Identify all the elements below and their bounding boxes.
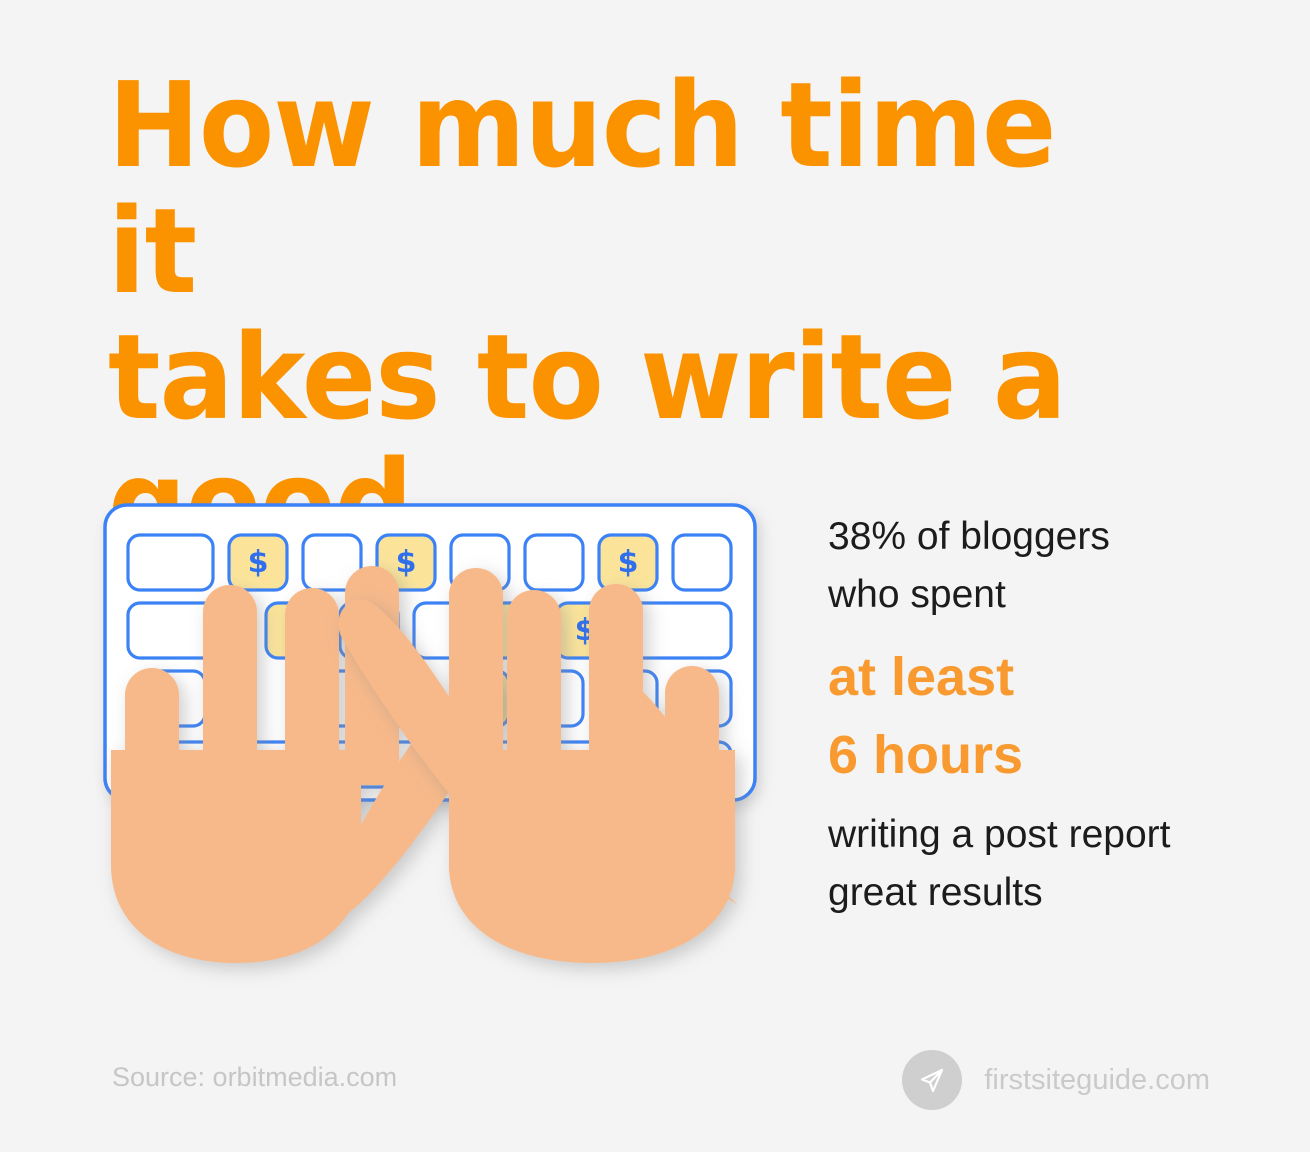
- svg-text:$: $: [248, 545, 269, 580]
- brand-footer[interactable]: firstsiteguide.com: [902, 1050, 1210, 1110]
- paper-plane-icon: [902, 1050, 962, 1110]
- keyboard-illustration: $ $ $: [95, 495, 775, 995]
- svg-text:$: $: [396, 545, 417, 580]
- source-credit: Source: orbitmedia.com: [112, 1060, 397, 1094]
- brand-name: firstsiteguide.com: [984, 1063, 1210, 1097]
- stat-lead-text: 38% of bloggers who spent: [828, 508, 1248, 624]
- statistic-block: 38% of bloggers who spent at least 6 hou…: [828, 508, 1248, 922]
- stat-highlight-text: at least 6 hours: [828, 638, 1248, 794]
- key-dollar: $: [599, 535, 657, 590]
- svg-text:$: $: [618, 545, 639, 580]
- key-dollar: $: [229, 535, 287, 590]
- stat-trail-text: writing a post report great results: [828, 806, 1248, 922]
- infographic-canvas: How much time it takes to write a good b…: [0, 0, 1310, 1152]
